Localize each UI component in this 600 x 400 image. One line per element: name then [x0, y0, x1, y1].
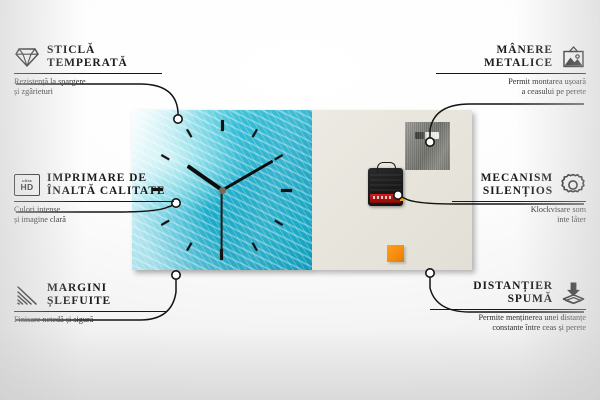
callout-title: STICLĂ TEMPERATĂ — [47, 44, 128, 70]
callout-subtitle: Finisare netedă și sigură — [14, 315, 166, 325]
callout-sticla-temperata: STICLĂ TEMPERATĂ Rezistență la spargere … — [14, 44, 162, 97]
battery — [370, 194, 401, 203]
hand-hour — [186, 164, 223, 191]
movement-body — [370, 171, 401, 191]
wire-node-distantier — [426, 269, 434, 277]
callout-distantier-spuma: DISTANȚIER SPUMĂ Permite menținerea unei… — [430, 280, 586, 333]
gear-icon — [560, 174, 586, 196]
hanger-slot — [415, 132, 439, 139]
hand-second — [221, 190, 223, 254]
callout-title: MARGINI ȘLEFUITE — [47, 282, 111, 308]
foam-spacer — [387, 245, 404, 262]
callout-subtitle: Rezistență la spargere și zgârieturi — [14, 77, 162, 97]
down-arrow-stack-icon — [560, 282, 586, 304]
callout-subtitle: Permit montarea ușoară a ceasului pe per… — [436, 77, 586, 97]
clock-tick — [222, 189, 292, 191]
callout-subtitle: Klockvisare som inte låter — [452, 205, 586, 225]
callout-title: DISTANȚIER SPUMĂ — [473, 280, 553, 306]
clock-tick — [221, 120, 223, 190]
callout-divider — [436, 73, 586, 74]
hatched-edge-icon — [14, 284, 40, 306]
callout-margini-slefuite: MARGINI ȘLEFUITE Finisare netedă și sigu… — [14, 282, 166, 325]
callout-subtitle: Culori intense și imagine clară — [14, 205, 174, 225]
callout-subtitle: Permite menținerea unei distanțe constan… — [430, 313, 586, 333]
infographic-canvas: STICLĂ TEMPERATĂ Rezistență la spargere … — [0, 0, 600, 400]
callout-divider — [14, 311, 166, 312]
callout-divider — [452, 201, 586, 202]
wire-node-margini — [172, 271, 180, 279]
callout-divider — [14, 201, 174, 202]
callout-divider — [14, 73, 162, 74]
diamond-icon — [14, 46, 40, 68]
battery-label — [373, 196, 393, 199]
clock-back-photo — [312, 110, 472, 270]
callout-mecanism-silentios: MECANISM SILENȚIOS Klockvisare som inte … — [452, 172, 586, 225]
callout-manere-metalice: MÂNERE METALICE Permit montarea ușoară a… — [436, 44, 586, 97]
ultra-hd-icon: ultra HD — [14, 174, 40, 196]
quartz-movement — [368, 168, 403, 206]
callout-title: IMPRIMARE DE ÎNALTĂ CALITATE — [47, 172, 165, 198]
callout-divider — [430, 309, 586, 310]
metal-hanger-plate — [405, 122, 450, 170]
picture-hanger-icon — [560, 46, 586, 68]
ultra-hd-icon-main-label: HD — [21, 183, 34, 192]
hand-cap — [219, 187, 226, 194]
callout-imprimare-hd: ultra HD IMPRIMARE DE ÎNALTĂ CALITATE Cu… — [14, 172, 174, 225]
callout-title: MÂNERE METALICE — [484, 44, 553, 70]
callout-title: MECANISM SILENȚIOS — [481, 172, 553, 198]
